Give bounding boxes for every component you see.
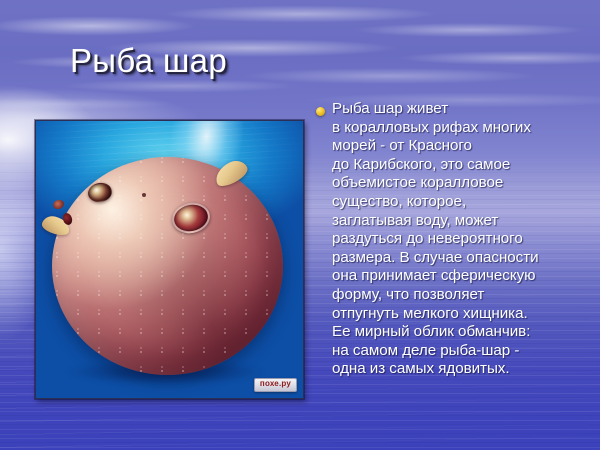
pufferfish-spines-pattern [52,157,283,375]
bullet-point-icon [316,107,325,116]
pufferfish-photo: похе.ру [35,120,304,399]
content-bullet-list: Рыба шар живет в коралловых рифах многих… [316,100,594,379]
photo-watermark: похе.ру [254,378,297,392]
body-paragraph: Рыба шар живет в коралловых рифах многих… [332,100,594,379]
pufferfish-body [52,157,283,375]
slide-title: Рыба шар [70,43,227,79]
pufferfish-skin-dot [142,193,146,197]
presentation-slide: Рыба шар похе.ру Рыба шар живет в коралл… [0,0,600,450]
